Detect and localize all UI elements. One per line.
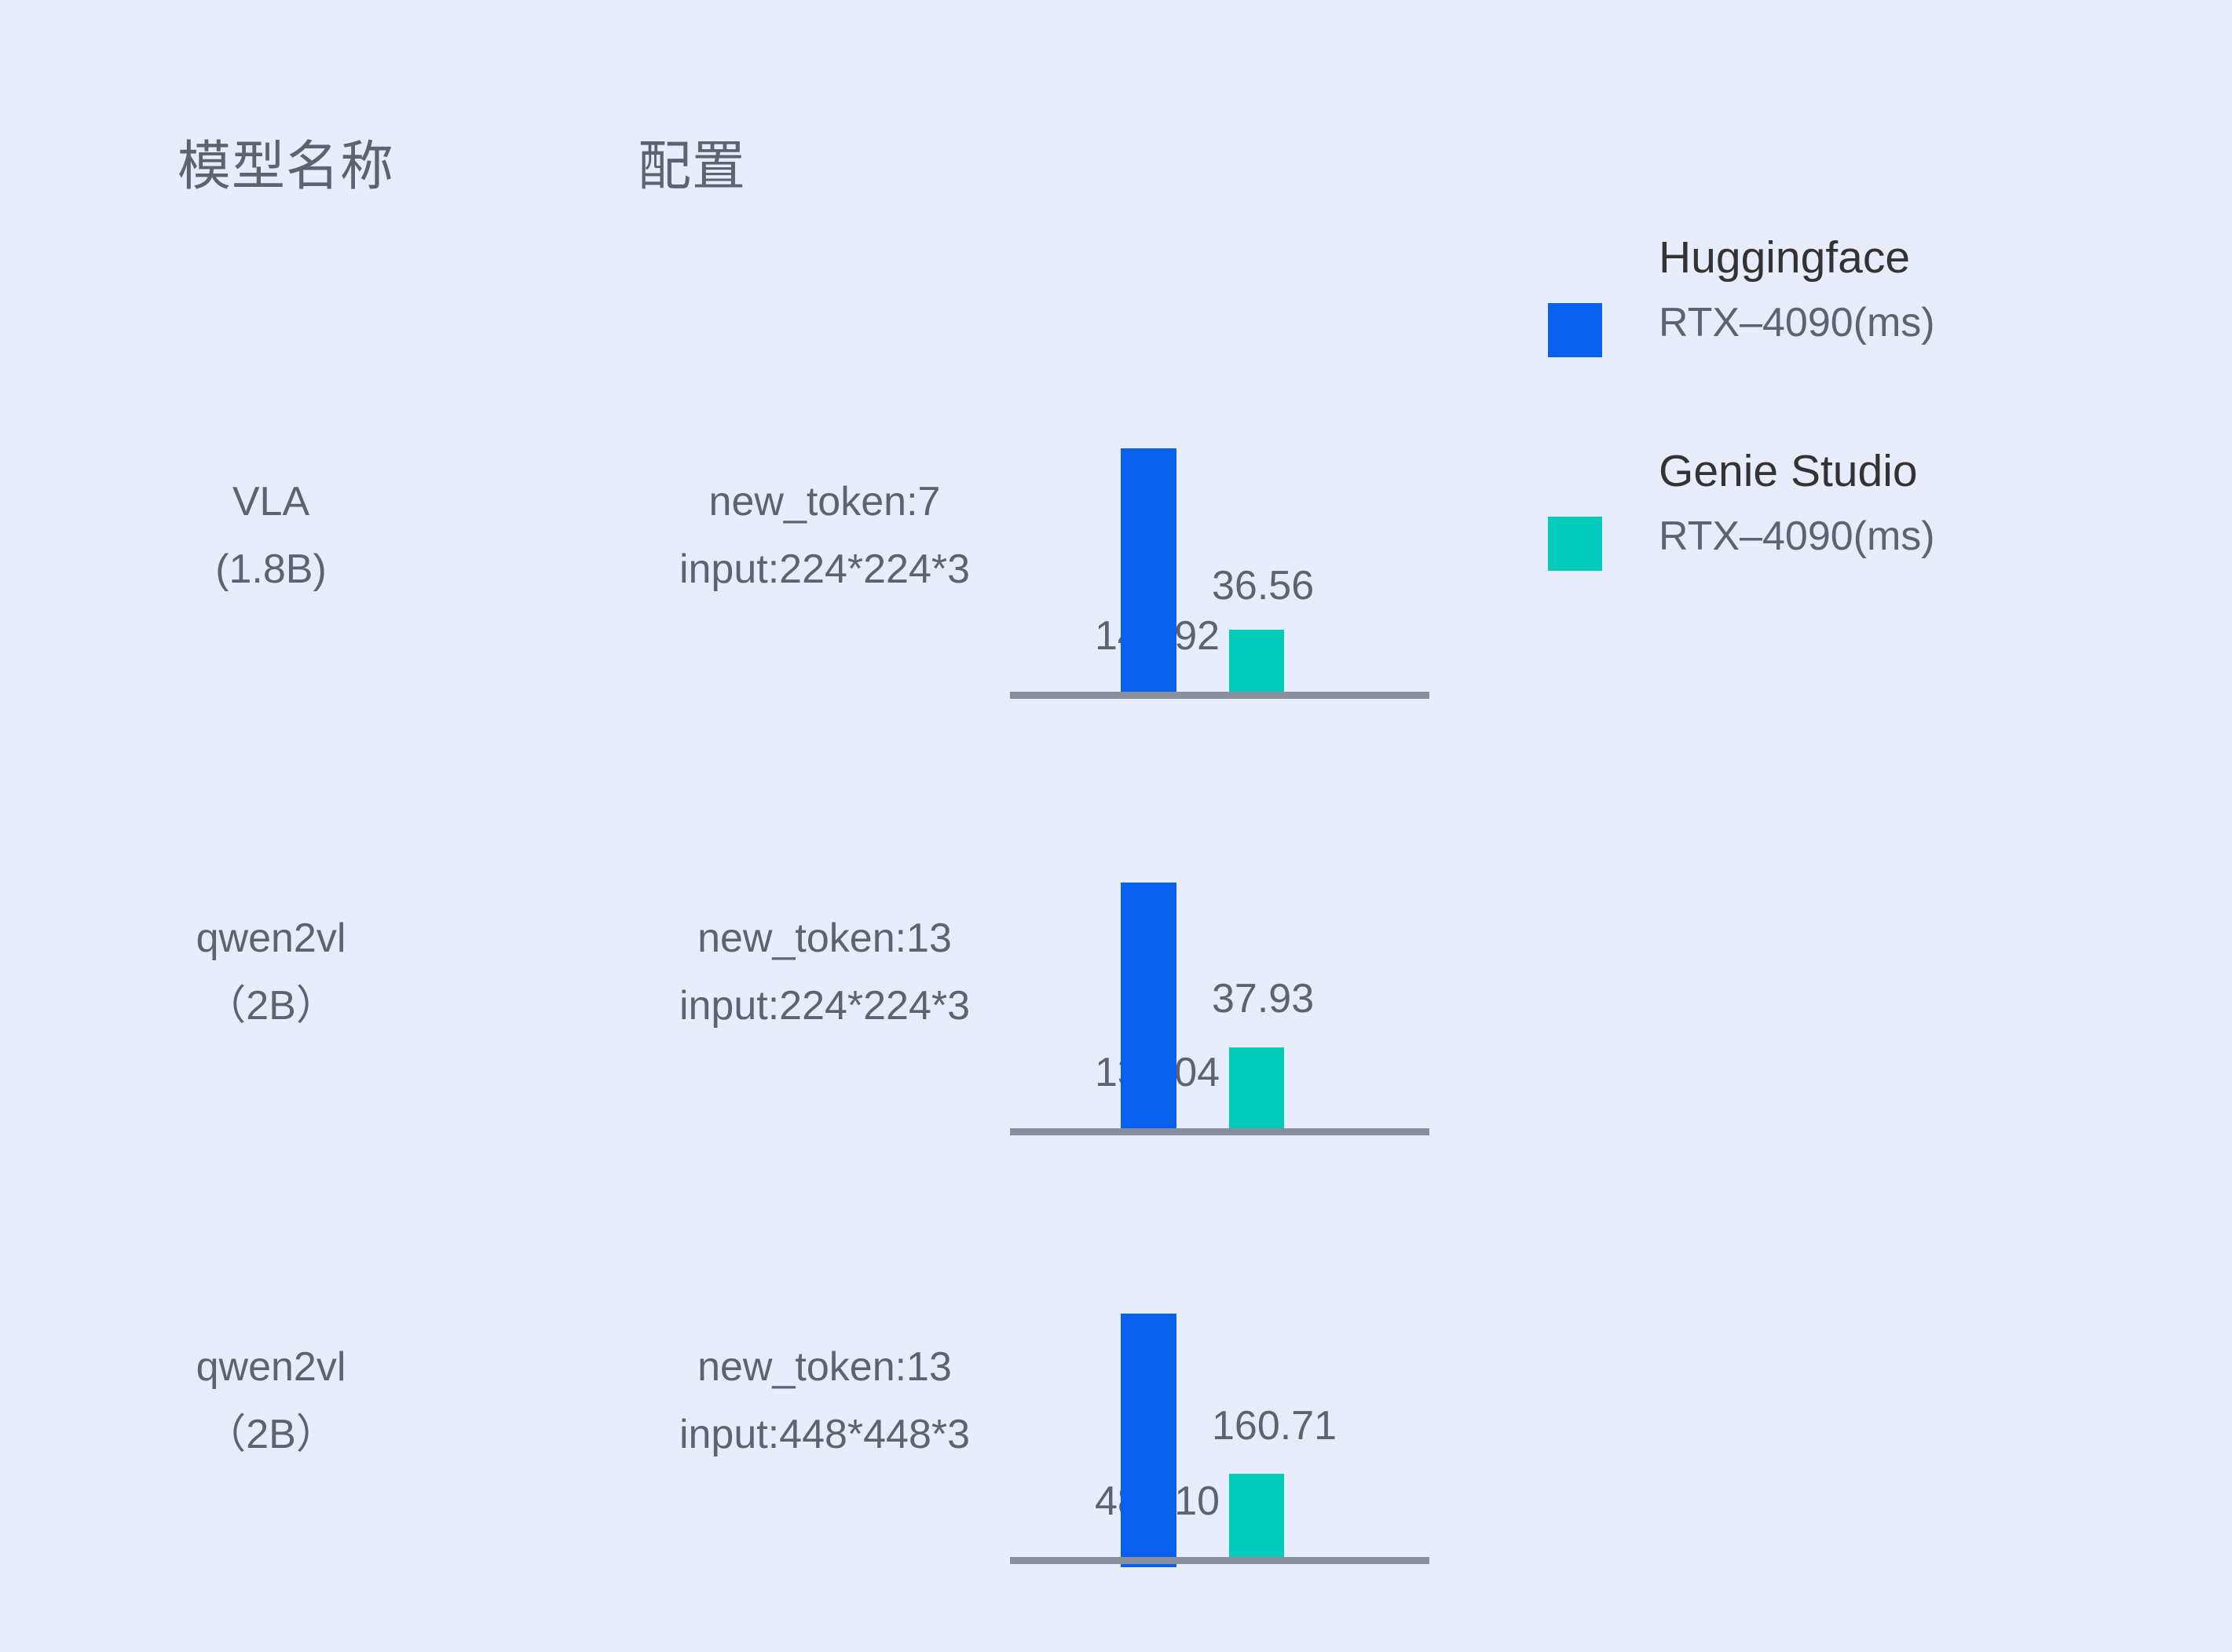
legend-item-genie-studio: Genie Studio RTX–4090(ms)	[1539, 449, 2120, 590]
column-header-model-name: 模型名称	[177, 140, 394, 193]
model-name-line-1: qwen2vl	[149, 1333, 393, 1401]
bar-value-label-genie-studio: 37.93	[1212, 978, 1314, 1019]
legend-text-group: Genie Studio RTX–4090(ms)	[1659, 449, 2114, 557]
bar-value-label-genie-studio: 160.71	[1212, 1405, 1337, 1446]
row-model-name: VLA (1.8B)	[149, 468, 393, 603]
model-name-line-1: VLA	[149, 468, 393, 535]
bar-genie-studio	[1229, 630, 1284, 692]
chart-row: qwen2vl （2B） new_token:13 input:224*224*…	[0, 876, 2232, 1135]
legend-subtitle: RTX–4090(ms)	[1659, 302, 2114, 343]
bar-huggingface	[1121, 883, 1176, 1128]
axis-baseline	[1010, 1128, 1429, 1135]
legend-text-group: Huggingface RTX–4090(ms)	[1659, 236, 2114, 343]
bar-genie-studio	[1229, 1047, 1284, 1128]
bar-group: 141.92 36.56	[1010, 440, 1429, 699]
bar-huggingface	[1121, 448, 1176, 692]
legend-subtitle: RTX–4090(ms)	[1659, 516, 2114, 557]
row-model-name: qwen2vl （2B）	[149, 1333, 393, 1468]
legend-item-huggingface: Huggingface RTX–4090(ms)	[1539, 236, 2120, 377]
bar-group: 131.04 37.93	[1010, 876, 1429, 1135]
axis-baseline	[1010, 692, 1429, 699]
model-name-line-2: (1.8B)	[149, 535, 393, 603]
chart-canvas: 模型名称 配置 VLA (1.8B) new_token:7 input:224…	[0, 0, 2232, 1652]
model-name-line-2: （2B）	[149, 972, 393, 1040]
legend-title: Genie Studio	[1659, 449, 2114, 494]
legend-swatch-genie-studio	[1548, 517, 1602, 571]
axis-baseline	[1010, 1557, 1429, 1564]
chart-row: qwen2vl （2B） new_token:13 input:448*448*…	[0, 1305, 2232, 1564]
row-model-name: qwen2vl （2B）	[149, 905, 393, 1040]
legend-title: Huggingface	[1659, 236, 2114, 280]
bar-huggingface	[1121, 1314, 1176, 1567]
column-header-config: 配置	[638, 140, 746, 193]
model-name-line-1: qwen2vl	[149, 905, 393, 972]
bar-group: 488.10 160.71	[1010, 1305, 1429, 1564]
bar-genie-studio	[1229, 1474, 1284, 1557]
model-name-line-2: （2B）	[149, 1401, 393, 1468]
bar-value-label-genie-studio: 36.56	[1212, 565, 1314, 606]
legend-swatch-huggingface	[1548, 303, 1602, 357]
